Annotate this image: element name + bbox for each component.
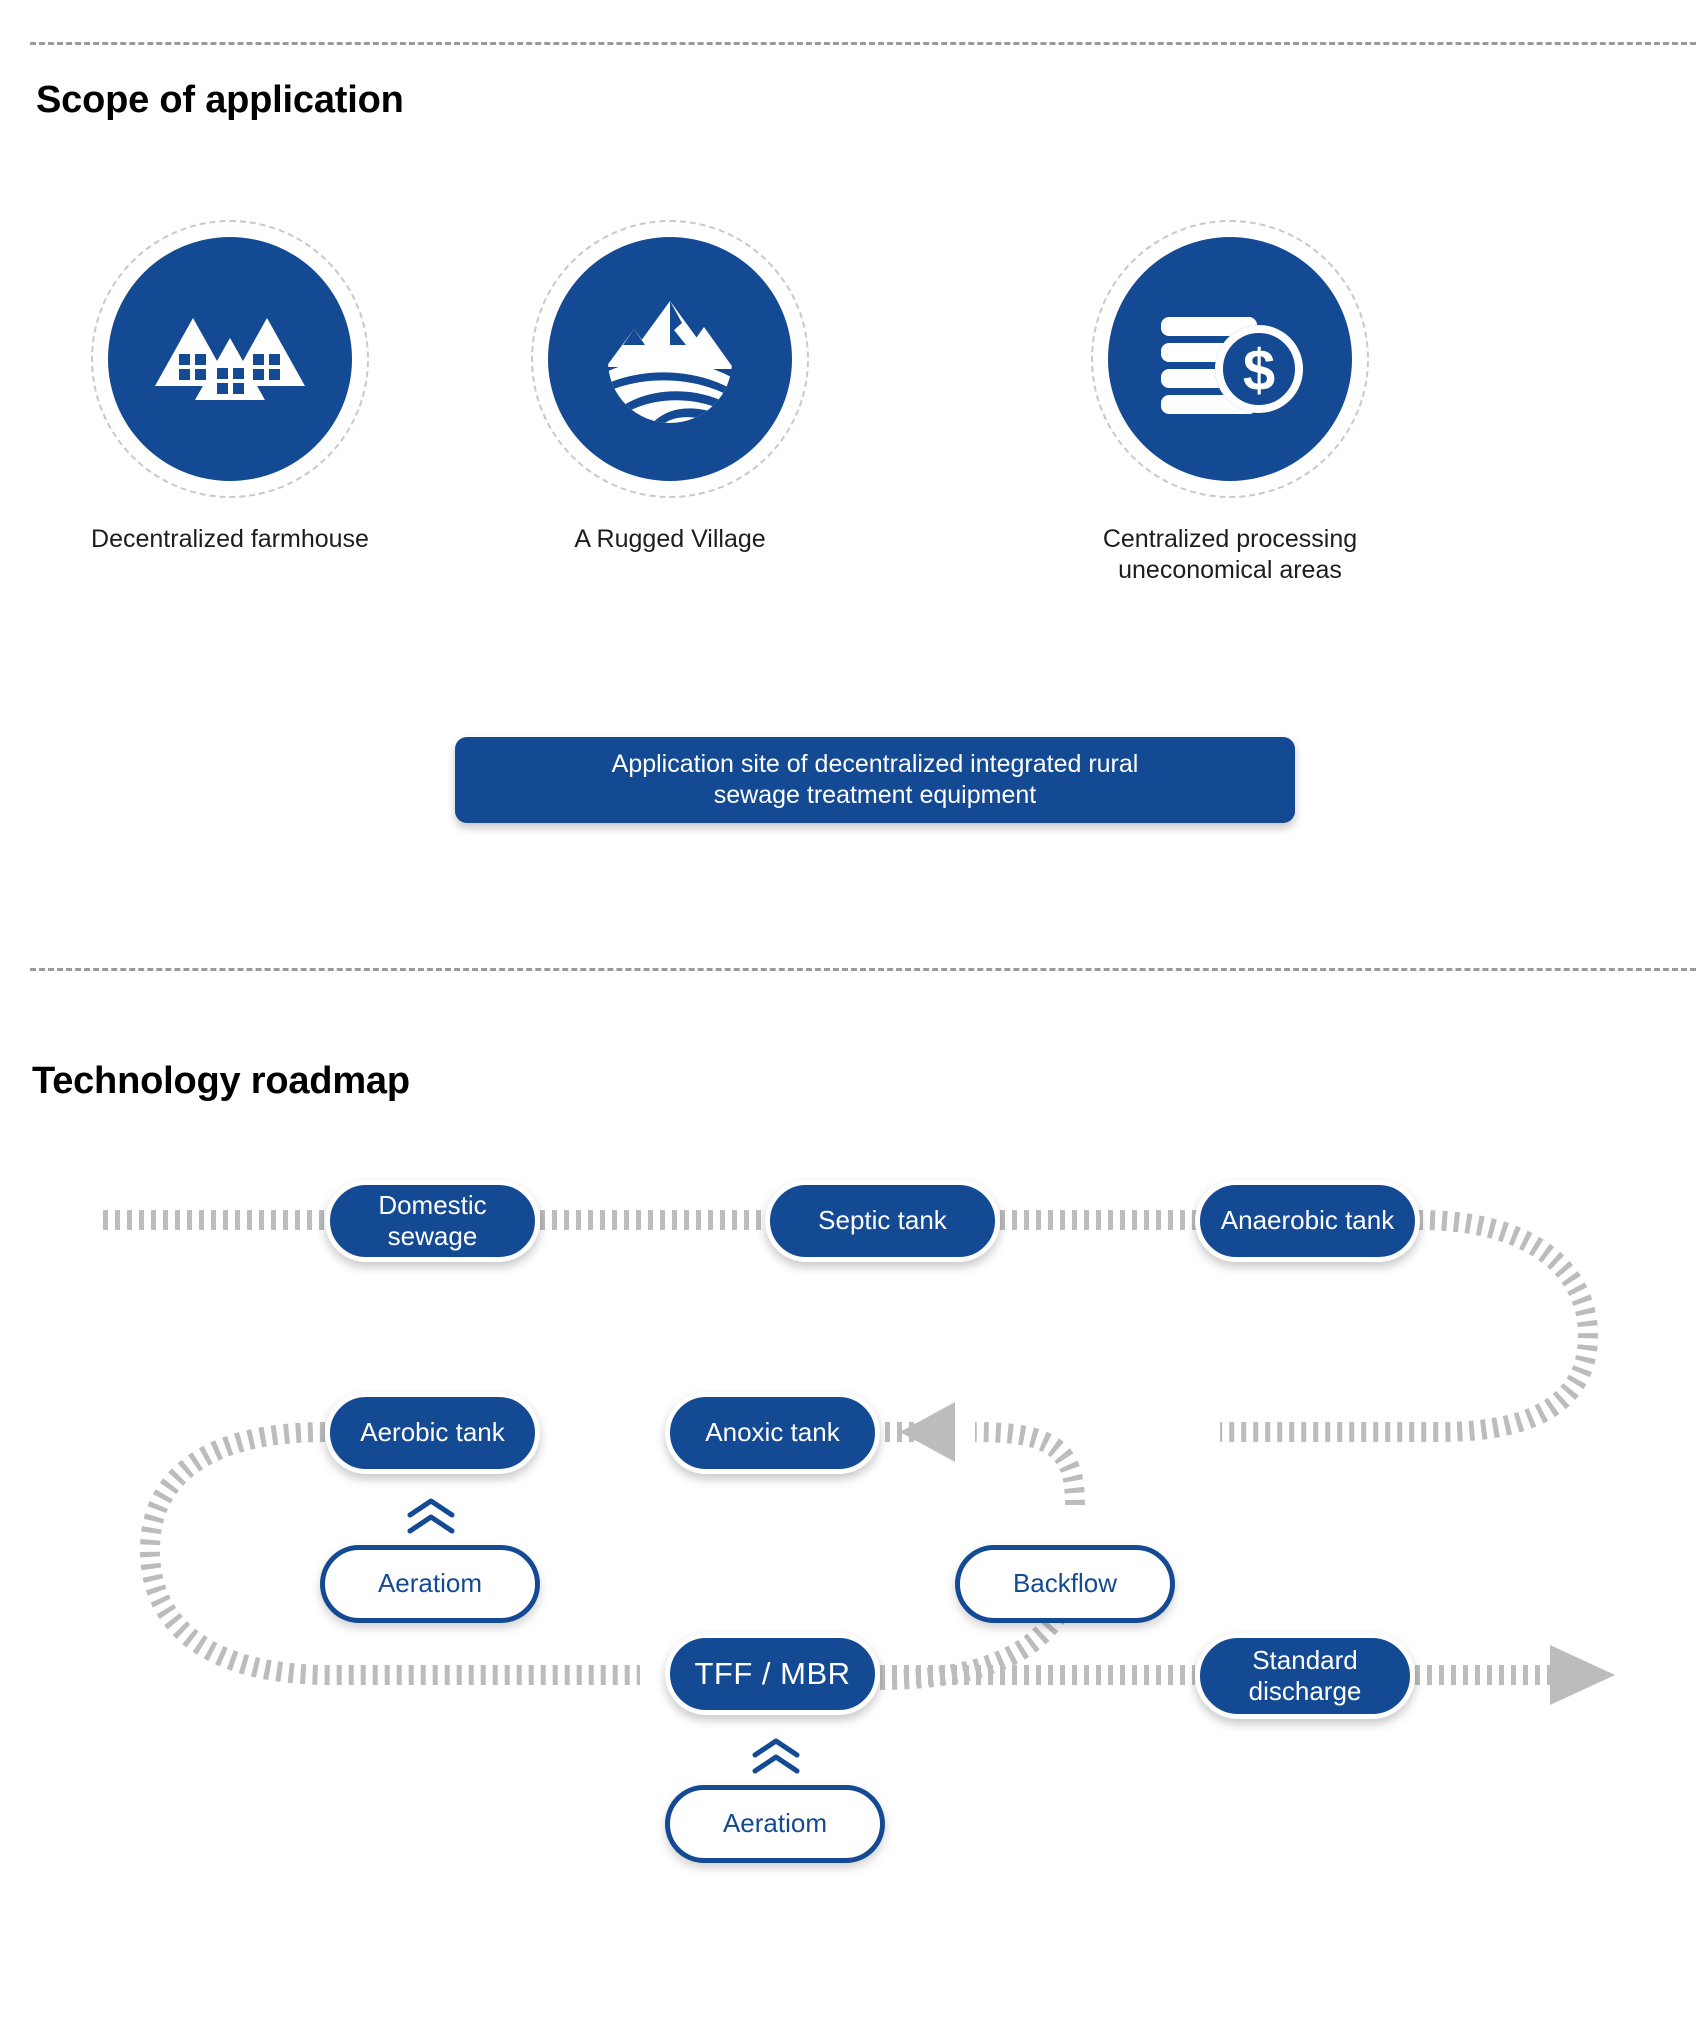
scope-items-row: Decentralized farmhouse bbox=[0, 220, 1696, 680]
houses-icon bbox=[155, 304, 305, 414]
node-tff-mbr[interactable]: TFF / MBR bbox=[665, 1633, 880, 1715]
slide-canvas: Scope of application bbox=[0, 0, 1696, 2027]
aeration-chevron-up-icon-upper bbox=[405, 1498, 457, 1543]
scope-item-label: Centralized processing uneconomical area… bbox=[1020, 524, 1440, 585]
dashed-ring bbox=[531, 220, 809, 498]
scope-item-village[interactable]: A Rugged Village bbox=[460, 220, 880, 555]
scope-item-label: A Rugged Village bbox=[460, 524, 880, 555]
icon-disc: $ bbox=[1108, 237, 1352, 481]
scope-item-label: Decentralized farmhouse bbox=[20, 524, 440, 555]
roadmap-diagram: .rib { fill:none; stroke:#bcbcbc; stroke… bbox=[0, 1120, 1696, 2020]
node-septic-tank[interactable]: Septic tank bbox=[765, 1180, 1000, 1262]
node-anoxic-tank[interactable]: Anoxic tank bbox=[665, 1392, 880, 1474]
node-aerobic-tank[interactable]: Aerobic tank bbox=[325, 1392, 540, 1474]
mountain-field-icon bbox=[600, 289, 740, 429]
arrowhead-into-anoxic bbox=[900, 1402, 955, 1462]
aeration-chevron-up-icon-lower bbox=[750, 1738, 802, 1783]
arrowhead-outlet bbox=[1550, 1645, 1615, 1705]
node-domestic-sewage[interactable]: Domestic sewage bbox=[325, 1180, 540, 1262]
divider-top bbox=[30, 42, 1696, 45]
wire-backflow-upper bbox=[975, 1432, 1075, 1505]
scope-item-uneconomical[interactable]: $ Centralized processing uneconomical ar… bbox=[1020, 220, 1440, 585]
node-aeration-upper[interactable]: Aeratiom bbox=[320, 1545, 540, 1623]
divider-middle bbox=[30, 968, 1696, 971]
node-backflow[interactable]: Backflow bbox=[955, 1545, 1175, 1623]
node-anaerobic-tank[interactable]: Anaerobic tank bbox=[1195, 1180, 1420, 1262]
svg-text:$: $ bbox=[1243, 338, 1275, 403]
scope-item-farmhouse[interactable]: Decentralized farmhouse bbox=[20, 220, 440, 555]
dashed-ring bbox=[91, 220, 369, 498]
icon-disc bbox=[548, 237, 792, 481]
dashed-ring: $ bbox=[1091, 220, 1369, 498]
node-standard-discharge[interactable]: Standard discharge bbox=[1195, 1633, 1415, 1719]
application-site-banner: Application site of decentralized integr… bbox=[455, 737, 1295, 823]
roadmap-section-title: Technology roadmap bbox=[32, 1060, 410, 1103]
coins-dollar-icon: $ bbox=[1155, 299, 1305, 419]
scope-section-title: Scope of application bbox=[36, 79, 404, 122]
node-aeration-lower[interactable]: Aeratiom bbox=[665, 1785, 885, 1863]
icon-disc bbox=[108, 237, 352, 481]
